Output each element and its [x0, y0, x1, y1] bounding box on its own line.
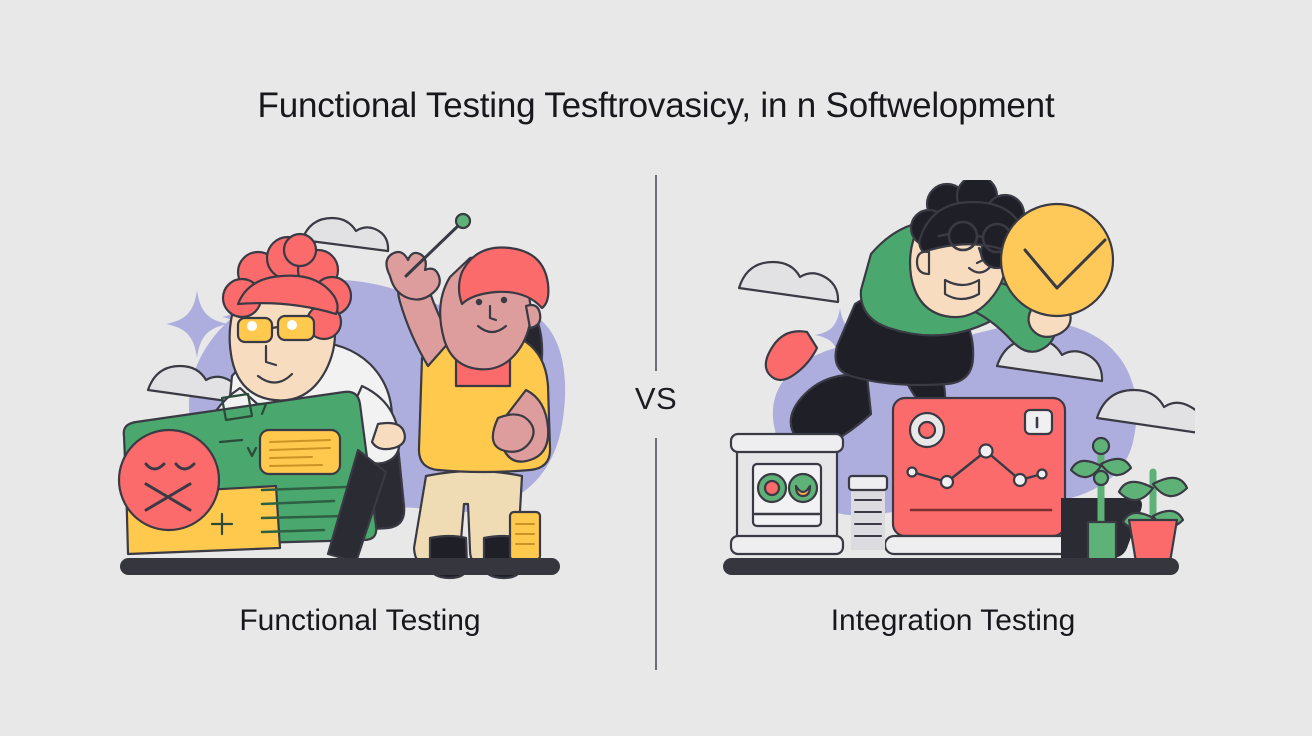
vs-label: VS [0, 381, 1312, 417]
poster-canvas: Functional Testing Tesftrovasicy, in n S… [0, 0, 1312, 736]
check-badge-icon [1001, 204, 1113, 316]
right-caption: Integration Testing [693, 604, 1213, 638]
error-face-icon [119, 430, 219, 530]
divider-line-top [655, 175, 657, 371]
left-caption: Functional Testing [100, 604, 620, 638]
left-illustration [112, 180, 582, 580]
divider-line-bottom [655, 438, 657, 670]
ground-bar [120, 558, 560, 575]
note-card [510, 512, 540, 560]
page-title: Functional Testing Tesftrovasicy, in n S… [0, 86, 1312, 126]
right-illustration [715, 180, 1195, 580]
plant-icon [1119, 472, 1187, 562]
ground-bar [723, 558, 1179, 575]
cloud-icon [739, 262, 838, 302]
